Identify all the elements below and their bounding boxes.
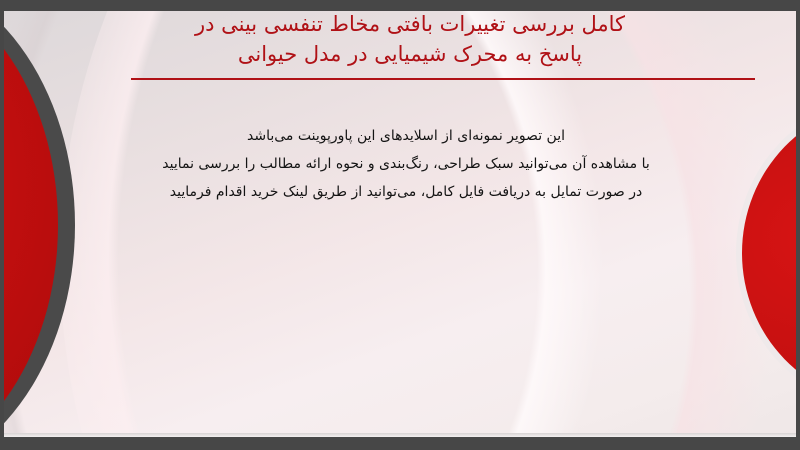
background-arc-band xyxy=(0,11,800,435)
slide-title-line-1: کامل بررسی تغییرات بافتی مخاط تنفسی بینی… xyxy=(60,9,760,39)
background-arc-band xyxy=(0,11,800,435)
slide-title: کامل بررسی تغییرات بافتی مخاط تنفسی بینی… xyxy=(60,9,760,69)
background-arc-band xyxy=(60,11,800,435)
body-line-3: در صورت تمایل به دریافت فایل کامل، می‌تو… xyxy=(26,178,786,206)
background-arc-band xyxy=(0,11,800,435)
presentation-slide: کامل بررسی تغییرات بافتی مخاط تنفسی بینی… xyxy=(0,0,800,450)
slide-frame-left xyxy=(0,0,4,450)
body-line-2: با مشاهده آن می‌توانید سبک طراحی، رنگ‌بن… xyxy=(26,150,786,178)
slide-title-line-2: پاسخ به محرک شیمیایی در مدل حیوانی xyxy=(60,39,760,69)
title-underline-rule xyxy=(131,78,755,80)
slide-frame-top xyxy=(0,0,800,11)
slide-body-text: این تصویر نمونه‌ای از اسلایدهای این پاور… xyxy=(26,122,786,206)
background-arc-band xyxy=(0,11,660,435)
body-line-1: این تصویر نمونه‌ای از اسلایدهای این پاور… xyxy=(26,122,786,150)
background-arc-band xyxy=(0,11,800,435)
slide-frame-right xyxy=(796,0,800,450)
slide-frame-bottom xyxy=(0,437,800,450)
slide-content-plate xyxy=(0,11,800,435)
